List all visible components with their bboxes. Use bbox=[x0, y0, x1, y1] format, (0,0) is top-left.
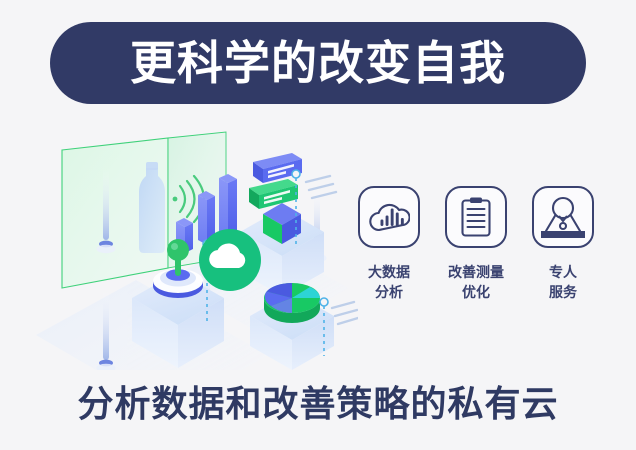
cloud-bar-chart-icon bbox=[358, 186, 420, 248]
poster-root: 更科学的改变自我 bbox=[0, 0, 636, 450]
feature-label-line2: 服务 bbox=[549, 282, 577, 302]
feature-dedicated-service[interactable]: 专人 服务 bbox=[524, 186, 602, 303]
feature-list: 大数据 分析 改善测量 优化 bbox=[350, 186, 602, 336]
feature-label-line1: 改善测量 bbox=[448, 262, 504, 282]
feature-label-line2: 优化 bbox=[448, 282, 504, 302]
feature-label-line1: 大数据 bbox=[368, 262, 410, 282]
page-tagline: 分析数据和改善策略的私有云 bbox=[0, 386, 636, 422]
feature-label-line2: 分析 bbox=[368, 282, 410, 302]
cloud-badge bbox=[199, 229, 261, 291]
illustration-isometric-scene bbox=[18, 120, 358, 370]
feature-measurement-optimization[interactable]: 改善测量 优化 bbox=[437, 186, 515, 303]
badge-data-green bbox=[249, 179, 298, 209]
feature-big-data-analysis[interactable]: 大数据 分析 bbox=[350, 186, 428, 303]
page-title: 更科学的改变自我 bbox=[130, 40, 506, 86]
support-person-icon bbox=[532, 186, 594, 248]
feature-label: 大数据 分析 bbox=[368, 262, 410, 303]
title-banner: 更科学的改变自我 bbox=[50, 22, 586, 104]
feature-label: 专人 服务 bbox=[549, 262, 577, 303]
feature-label-line1: 专人 bbox=[549, 262, 577, 282]
feature-label: 改善测量 优化 bbox=[448, 262, 504, 303]
clipboard-document-icon bbox=[445, 186, 507, 248]
